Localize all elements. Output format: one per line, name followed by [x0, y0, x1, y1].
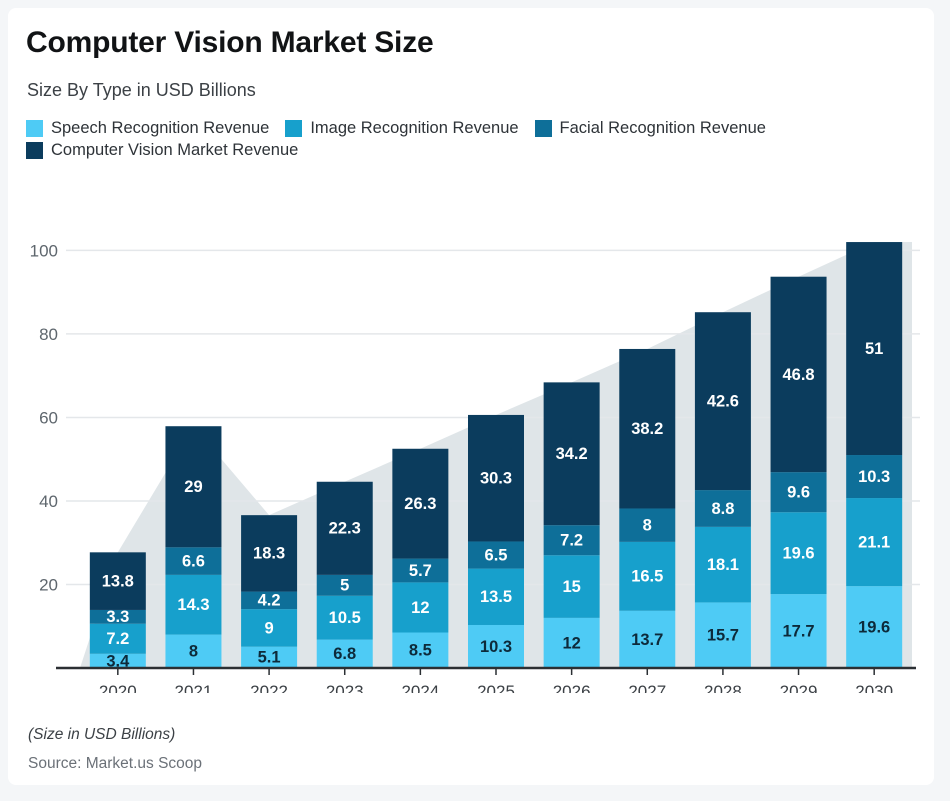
bar-value-label: 9: [264, 619, 273, 637]
x-axis-tick-label: 2027: [628, 682, 666, 693]
bar-value-label: 38.2: [631, 420, 663, 438]
legend-swatch-icon: [535, 120, 552, 137]
bar-value-label: 9.6: [787, 484, 810, 502]
bar-value-label: 29: [184, 478, 202, 496]
bar-value-label: 7.2: [106, 630, 129, 648]
bar-value-label: 8.8: [711, 500, 734, 518]
x-axis-tick-label: 2026: [553, 682, 591, 693]
bar-value-label: 10.3: [480, 638, 512, 656]
legend-item-label: Image Recognition Revenue: [310, 120, 518, 137]
bar-group[interactable]: 12157.234.2: [544, 382, 600, 668]
bar-value-label: 5: [340, 577, 349, 595]
y-axis-tick-label: 80: [39, 325, 58, 344]
bar-value-label: 14.3: [177, 596, 209, 614]
chart-card: Computer Vision Market Size Size By Type…: [8, 8, 934, 785]
legend-swatch-icon: [285, 120, 302, 137]
bar-value-label: 51: [865, 340, 883, 358]
bar-group[interactable]: 15.718.18.842.6: [695, 312, 751, 668]
legend-item[interactable]: Speech Recognition Revenue: [26, 120, 269, 137]
bar-value-label: 42.6: [707, 393, 739, 411]
page-title: Computer Vision Market Size: [26, 26, 433, 60]
y-axis-tick-label: 60: [39, 408, 58, 427]
x-axis-tick-label: 2022: [250, 682, 288, 693]
bar-group[interactable]: 17.719.69.646.8: [771, 277, 827, 668]
y-axis-tick-label: 100: [30, 241, 58, 260]
bar-value-label: 34.2: [556, 445, 588, 463]
bar-group[interactable]: 8.5125.726.3: [392, 449, 448, 668]
legend-item[interactable]: Facial Recognition Revenue: [535, 120, 766, 137]
bar-value-label: 15: [562, 578, 580, 596]
bar-group[interactable]: 19.621.110.351: [846, 242, 902, 668]
x-axis-tick-label: 2030: [855, 682, 893, 693]
legend-item[interactable]: Computer Vision Market Revenue: [26, 142, 298, 159]
bar-value-label: 19.6: [782, 545, 814, 563]
bar-value-label: 22.3: [329, 520, 361, 538]
bar-value-label: 13.8: [102, 573, 134, 591]
bar-value-label: 6.6: [182, 552, 205, 570]
legend-item[interactable]: Image Recognition Revenue: [285, 120, 518, 137]
bar-value-label: 7.2: [560, 532, 583, 550]
bar-value-label: 17.7: [782, 622, 814, 640]
bar-value-label: 5.7: [409, 562, 432, 580]
chart-svg: 204060801003.47.23.313.8814.36.6295.194.…: [8, 193, 934, 693]
bar-value-label: 16.5: [631, 568, 663, 586]
bar-value-label: 12: [562, 634, 580, 652]
bar-group[interactable]: 3.47.23.313.8: [90, 552, 146, 670]
chart-subtitle: Size By Type in USD Billions: [27, 80, 256, 101]
bar-value-label: 13.7: [631, 631, 663, 649]
chart-legend: Speech Recognition RevenueImage Recognit…: [26, 120, 916, 164]
legend-item-label: Speech Recognition Revenue: [51, 120, 269, 137]
x-axis-tick-label: 2024: [401, 682, 439, 693]
bar-value-label: 30.3: [480, 470, 512, 488]
bar-value-label: 5.1: [258, 649, 281, 667]
bar-value-label: 6.8: [333, 645, 356, 663]
bar-value-label: 6.5: [485, 546, 508, 564]
bar-group[interactable]: 6.810.5522.3: [317, 482, 373, 668]
bar-value-label: 10.3: [858, 468, 890, 486]
bar-value-label: 12: [411, 599, 429, 617]
bar-value-label: 15.7: [707, 627, 739, 645]
bar-value-label: 18.3: [253, 545, 285, 563]
bar-value-label: 18.1: [707, 556, 739, 574]
bar-value-label: 13.5: [480, 588, 512, 606]
bar-group[interactable]: 13.716.5838.2: [619, 349, 675, 668]
x-axis-tick-label: 2020: [99, 682, 137, 693]
bar-value-label: 10.5: [329, 609, 361, 627]
bar-group[interactable]: 814.36.629: [165, 426, 221, 668]
bar-group[interactable]: 5.194.218.3: [241, 515, 297, 668]
legend-swatch-icon: [26, 142, 43, 159]
x-axis-tick-label: 2023: [326, 682, 364, 693]
bar-value-label: 21.1: [858, 533, 890, 551]
footnote: (Size in USD Billions): [28, 726, 175, 744]
bar-value-label: 19.6: [858, 618, 890, 636]
source-label: Source: Market.us Scoop: [28, 755, 202, 773]
bar-value-label: 46.8: [782, 366, 814, 384]
x-axis-tick-label: 2021: [175, 682, 213, 693]
y-axis-tick-label: 40: [39, 492, 58, 511]
bar-value-label: 26.3: [404, 495, 436, 513]
x-axis-tick-label: 2029: [780, 682, 818, 693]
plot-area: 204060801003.47.23.313.8814.36.6295.194.…: [8, 193, 934, 693]
bar-value-label: 8.5: [409, 642, 432, 660]
y-axis-tick-label: 20: [39, 575, 58, 594]
x-axis-tick-label: 2028: [704, 682, 742, 693]
legend-item-label: Facial Recognition Revenue: [560, 120, 766, 137]
bar-value-label: 4.2: [258, 592, 281, 610]
bar-value-label: 3.3: [106, 608, 129, 626]
legend-item-label: Computer Vision Market Revenue: [51, 142, 298, 159]
bar-group[interactable]: 10.313.56.530.3: [468, 415, 524, 668]
legend-swatch-icon: [26, 120, 43, 137]
x-axis-tick-label: 2025: [477, 682, 515, 693]
bar-value-label: 8: [643, 517, 652, 535]
bar-value-label: 8: [189, 643, 198, 661]
